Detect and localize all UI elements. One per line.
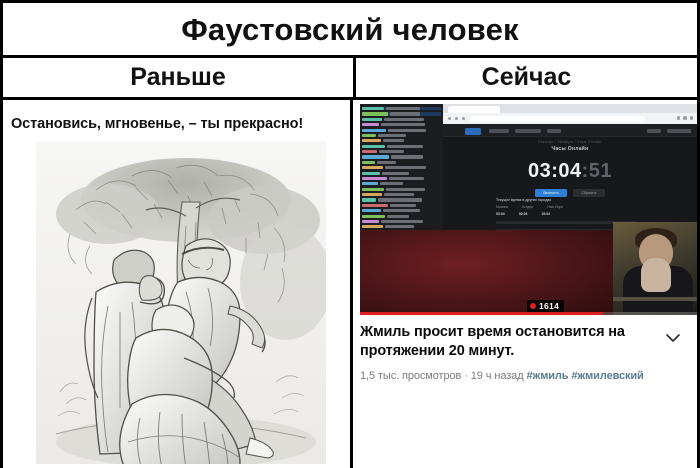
chat-text (378, 134, 406, 137)
timer-site-navbar (443, 124, 697, 137)
chat-message (362, 155, 441, 158)
video-progress-fill (360, 312, 603, 315)
stream-stage-backdrop (360, 230, 613, 315)
video-stats: 1,5 тыс. просмотров · 19 ч назад #жмиль … (360, 370, 693, 382)
meme-column-header-row: Раньше Сейчас (0, 58, 700, 100)
chat-message (362, 166, 441, 169)
video-age: 19 ч назад (471, 370, 524, 382)
chat-username (362, 182, 378, 185)
chat-message (362, 139, 441, 142)
timer-name: Часы Онлайн (443, 146, 697, 152)
browser-extension-icon (677, 116, 681, 120)
chat-message (362, 188, 441, 191)
chat-username (362, 177, 387, 180)
chat-text (390, 112, 420, 115)
chat-text (388, 129, 426, 132)
streamer-desk (613, 297, 697, 301)
column-header-now: Сейчас (356, 58, 697, 97)
chat-username (362, 188, 384, 191)
chat-username (362, 118, 382, 121)
browser-url-field (470, 116, 645, 122)
chat-username (362, 209, 381, 212)
site-logo-icon (465, 128, 481, 135)
faust-quote: Остановись, мгновенье, – ты прекрасно! (11, 116, 351, 132)
chat-text (384, 193, 414, 196)
chat-username (362, 161, 375, 164)
timer-block: Главная / Таймеры / Часы Онлайн Часы Онл… (443, 140, 697, 197)
chat-message (362, 118, 441, 121)
video-title[interactable]: Жмиль просит время остановится на протяж… (360, 323, 646, 362)
browser-tab (448, 106, 500, 114)
chat-text (385, 166, 426, 169)
world-clock-cities: Москва Лондон Нью-Йорк (496, 205, 644, 209)
browser-back-icon (448, 117, 451, 120)
chat-text (381, 220, 423, 223)
video-meta: Жмиль просит время остановится на протяж… (360, 323, 697, 382)
chat-message (362, 182, 441, 185)
chat-username (362, 204, 388, 207)
video-stats-separator: · (464, 370, 468, 382)
world-clock-time: 00:04 (519, 212, 528, 216)
nav-item-register (667, 129, 691, 133)
column-header-before: Раньше (3, 58, 356, 97)
chat-message (362, 112, 441, 115)
chat-text (379, 150, 404, 153)
browser-profile-icon (683, 116, 687, 120)
chat-username (362, 150, 377, 153)
chat-username (362, 129, 386, 132)
chat-message (362, 177, 441, 180)
chat-username (362, 112, 388, 115)
chat-message (362, 161, 441, 164)
chat-username (362, 225, 383, 228)
chat-username (362, 139, 381, 142)
streamer-hands (641, 258, 671, 292)
world-clock-times: 03:04 00:04 19:04 (496, 212, 644, 216)
panel-before: Остановись, мгновенье, – ты прекрасно! (0, 100, 353, 468)
video-views: 1,5 тыс. просмотров (360, 370, 461, 382)
chat-text (381, 123, 425, 126)
chat-username (362, 172, 380, 175)
chat-message (362, 107, 441, 110)
meme-title-row: Фаустовский человек (0, 0, 700, 58)
timer-reset-button[interactable]: Сбросить (573, 189, 605, 197)
chat-username (362, 198, 376, 201)
timer-buttons: Включить Сбросить (443, 189, 697, 197)
chat-username (362, 107, 384, 110)
chat-message (362, 145, 441, 148)
chat-message (362, 209, 441, 212)
world-clock-city: Лондон (522, 205, 534, 209)
nav-item-timers (489, 129, 509, 133)
chat-text (382, 172, 409, 175)
chat-message (362, 204, 441, 207)
world-clock-city: Москва (496, 205, 508, 209)
meme-body: Остановись, мгновенье, – ты прекрасно! (0, 100, 700, 468)
chat-text (390, 204, 416, 207)
meme-image: Фаустовский человек Раньше Сейчас Остано… (0, 0, 700, 468)
chat-text (387, 215, 409, 218)
video-progress-bar[interactable] (360, 312, 697, 315)
chat-message (362, 220, 441, 223)
video-hashtags[interactable]: #жмиль #жмилевский (526, 370, 643, 382)
streamer-webcam (613, 222, 697, 315)
chat-text (387, 145, 423, 148)
panel-now: Главная / Таймеры / Часы Онлайн Часы Онл… (353, 100, 700, 468)
chat-username (362, 220, 379, 223)
nav-item-stopwatch (515, 129, 541, 133)
live-viewer-count: 1614 (539, 301, 559, 311)
chat-message (362, 123, 441, 126)
world-clock-header: Текущее время в других городах (496, 198, 644, 202)
chat-username (362, 215, 385, 218)
chat-message (362, 193, 441, 196)
chat-message (362, 225, 441, 228)
chat-text (391, 155, 423, 158)
timer-hours: 03 (528, 160, 551, 182)
world-clock-time: 19:04 (541, 212, 550, 216)
chat-text (386, 188, 425, 191)
page-title: Фаустовский человек (181, 14, 519, 45)
chat-message (362, 198, 441, 201)
timer-display: 03:04:51 (443, 161, 697, 181)
chat-text (384, 118, 424, 121)
world-clock-time: 03:04 (496, 212, 505, 216)
chat-username (362, 166, 383, 169)
live-viewer-badge: 1614 (527, 300, 564, 312)
browser-menu-icon (690, 116, 694, 120)
world-clock-city: Нью-Йорк (547, 205, 563, 209)
chat-text (383, 209, 420, 212)
chat-text (385, 225, 414, 228)
live-dot-icon (530, 303, 536, 309)
chat-text (389, 177, 424, 180)
chat-text (377, 161, 396, 164)
chat-text (378, 198, 422, 201)
youtube-video-card[interactable]: Главная / Таймеры / Часы Онлайн Часы Онл… (360, 104, 697, 464)
chat-text (380, 182, 403, 185)
chat-message (362, 134, 441, 137)
chat-username (362, 155, 389, 158)
chat-text (386, 107, 420, 110)
nav-item-login (647, 129, 661, 133)
chat-username (362, 193, 382, 196)
chat-message (362, 129, 441, 132)
chat-username (362, 134, 376, 137)
chat-text (383, 139, 404, 142)
faust-engraving-image (36, 142, 326, 464)
browser-reload-icon (462, 117, 465, 120)
chat-username (362, 145, 385, 148)
browser-toolbar-icons (677, 116, 694, 120)
video-thumbnail[interactable]: Главная / Таймеры / Часы Онлайн Часы Онл… (360, 104, 697, 315)
chat-message (362, 215, 441, 218)
chat-message (362, 150, 441, 153)
nav-item-clock (547, 129, 561, 133)
chat-message (362, 172, 441, 175)
browser-forward-icon (455, 117, 458, 120)
timer-breadcrumbs: Главная / Таймеры / Часы Онлайн (443, 140, 697, 144)
chevron-down-icon[interactable] (665, 330, 681, 346)
timer-minutes: :04 (551, 160, 581, 182)
timer-seconds: :51 (582, 160, 612, 182)
chat-username (362, 123, 379, 126)
timer-start-button[interactable]: Включить (535, 189, 567, 197)
